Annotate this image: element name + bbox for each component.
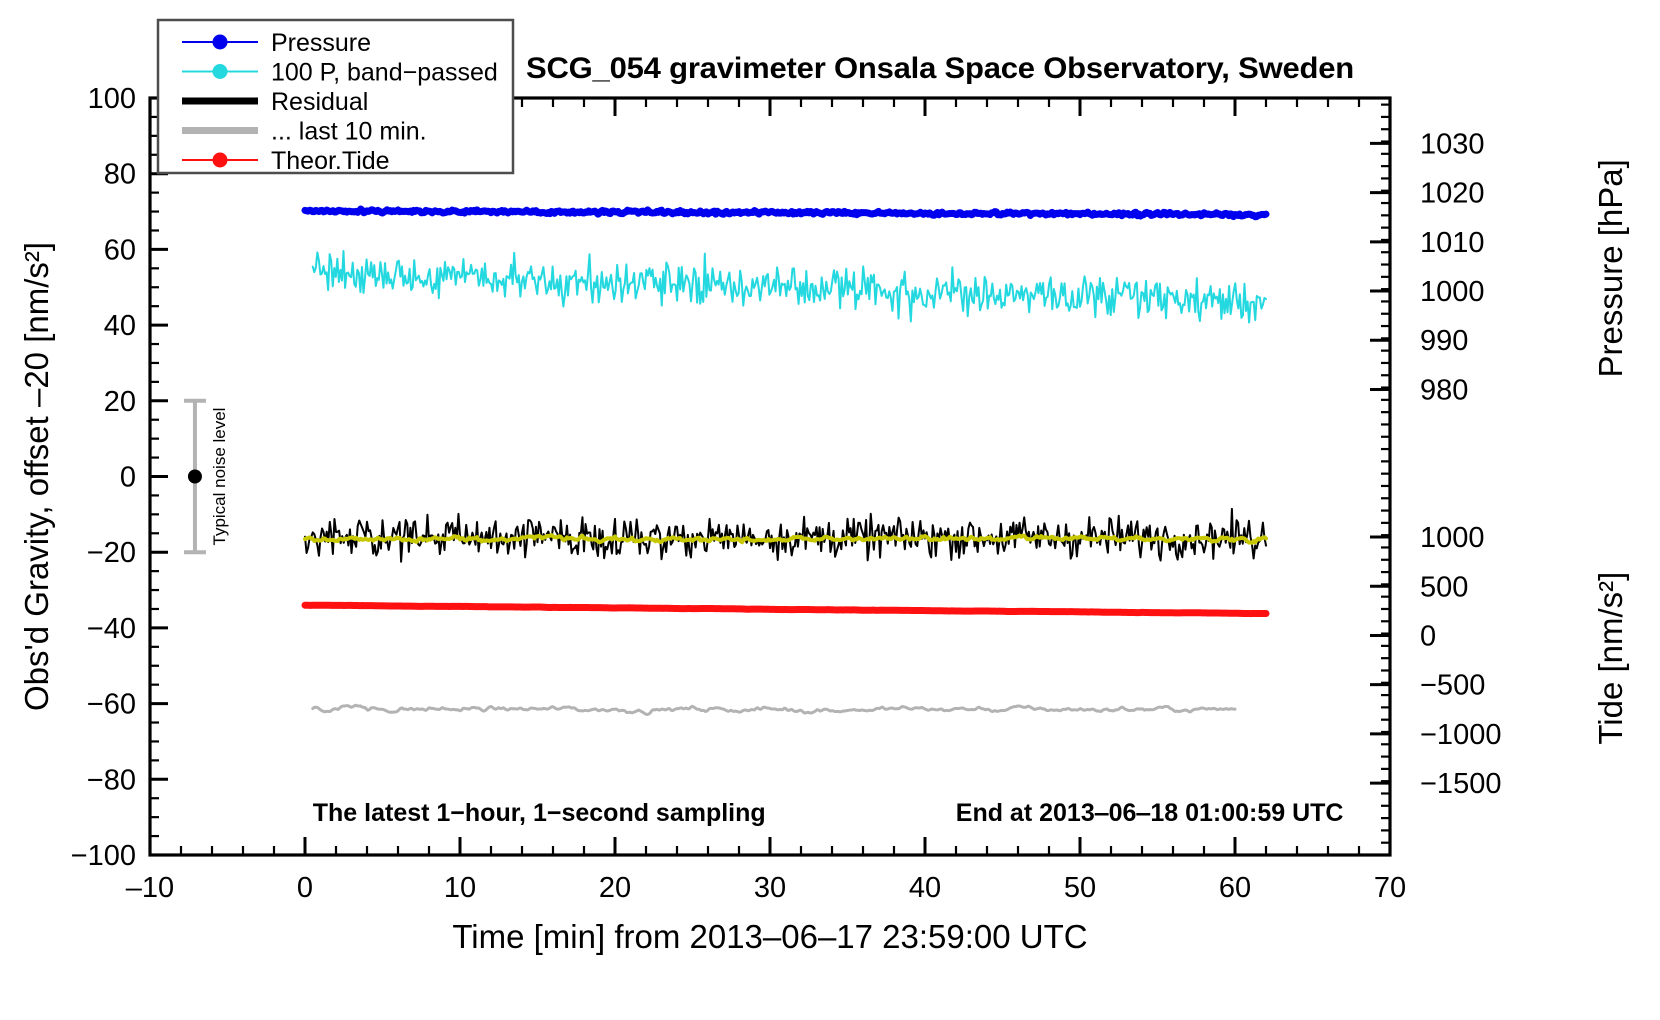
x-tick-label: ‒10: [126, 872, 174, 904]
legend-label-0: Pressure: [271, 29, 371, 57]
pressure-tick-label: 980: [1420, 374, 1468, 406]
series-last-10-min: [313, 705, 1235, 714]
tide-tick-label: −1000: [1420, 719, 1501, 751]
x-tick-label: 50: [1064, 872, 1096, 904]
legend-label-2: Residual: [271, 88, 368, 116]
annotation-end-time-note: End at 2013‒06‒18 01:00:59 UTC: [956, 799, 1344, 827]
pressure-tick-label: 1000: [1420, 276, 1485, 308]
tide-tick-label: 1000: [1420, 522, 1485, 554]
noise-level-dot: [188, 470, 202, 484]
legend-label-3: ... last 10 min.: [271, 118, 427, 146]
tide-axis-title: Tide [nm/s²]: [1592, 572, 1629, 745]
x-tick-label: 10: [444, 872, 476, 904]
y-tick-label: −20: [87, 537, 136, 569]
series-theor-tide: [305, 605, 1266, 613]
x-tick-label: 40: [909, 872, 941, 904]
legend-marker-0: [213, 35, 228, 50]
x-tick-label: 60: [1219, 872, 1251, 904]
x-axis-title: Time [min] from 2013‒06‒17 23:59:00 UTC: [452, 918, 1087, 955]
annotation-sampling-note: The latest 1−hour, 1−second sampling: [313, 799, 766, 827]
x-tick-label: 0: [297, 872, 313, 904]
y-tick-label: 100: [88, 83, 136, 115]
pressure-axis-title: Pressure [hPa]: [1592, 159, 1629, 377]
noise-level-label: Typical noise level: [210, 408, 229, 546]
y-tick-label: −80: [87, 764, 136, 796]
legend-marker-1: [213, 64, 228, 79]
y-tick-label: 40: [104, 310, 136, 342]
legend-marker-4: [213, 153, 228, 168]
y-tick-label: −60: [87, 689, 136, 721]
tide-tick-label: 0: [1420, 620, 1436, 652]
pressure-tick-label: 1030: [1420, 128, 1485, 160]
x-tick-label: 20: [599, 872, 631, 904]
y-tick-label: 20: [104, 386, 136, 418]
x-tick-label: 70: [1374, 872, 1406, 904]
y-axis-title: Obs'd Gravity, offset ‒20 [nm/s²]: [18, 242, 55, 711]
y-tick-label: −40: [87, 613, 136, 645]
legend-label-1: 100 P, band−passed: [271, 59, 498, 87]
pressure-tick-label: 990: [1420, 325, 1468, 357]
tide-tick-label: −1500: [1420, 768, 1501, 800]
pressure-tick-label: 1020: [1420, 178, 1485, 210]
series-100-p-band-passed: [313, 251, 1266, 323]
pressure-tick-label: 1010: [1420, 227, 1485, 259]
x-tick-label: 30: [754, 872, 786, 904]
chart-title: SCG_054 gravimeter Onsala Space Observat…: [526, 52, 1354, 85]
legend-label-4: Theor.Tide: [271, 147, 390, 175]
chart-canvas: ‒10010203040506070−100−80−60−40−20020406…: [0, 0, 1660, 1020]
series-pressure: [305, 209, 1266, 217]
y-tick-label: 0: [120, 462, 136, 494]
y-tick-label: 60: [104, 234, 136, 266]
tide-tick-label: −500: [1420, 670, 1485, 702]
y-tick-label: 80: [104, 159, 136, 191]
series-residual: [305, 509, 1266, 562]
y-tick-label: −100: [71, 840, 136, 872]
tide-tick-label: 500: [1420, 571, 1468, 603]
gravimeter-time-series-figure: ‒10010203040506070−100−80−60−40−20020406…: [0, 0, 1660, 1020]
